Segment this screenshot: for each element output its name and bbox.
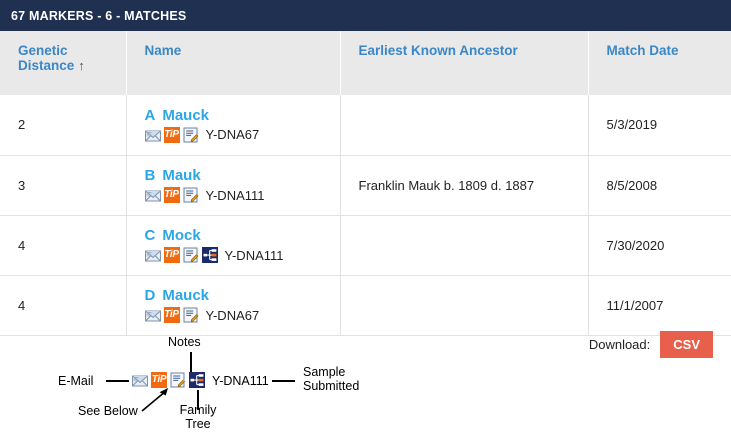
legend-sample-line1: Sample: [303, 365, 345, 379]
legend-diagram: Notes E-Mail TiP Y-DNA1: [0, 330, 460, 444]
notes-icon[interactable]: [183, 307, 199, 323]
email-icon[interactable]: [145, 307, 161, 323]
table-header-row: Genetic Distance↑ Name Earliest Known An…: [0, 31, 731, 95]
notes-icon: [170, 372, 186, 388]
marker-panel-label: Y-DNA111: [225, 248, 284, 263]
match-surname: Mauk: [162, 167, 200, 184]
table-row: 4CMockTiPY-DNA1117/30/2020: [0, 215, 731, 275]
family-tree-icon[interactable]: [202, 247, 218, 263]
notes-icon[interactable]: [183, 247, 199, 263]
match-initial: C: [145, 227, 156, 244]
cell-match-date: 8/5/2008: [588, 155, 731, 215]
legend-leader-email: [106, 380, 129, 382]
page-title: 67 MARKERS - 6 - MATCHES: [11, 9, 186, 23]
column-header-label: Earliest Known Ancestor: [359, 43, 518, 58]
notes-icon[interactable]: [183, 187, 199, 203]
match-surname: Mauck: [162, 107, 209, 124]
cell-genetic-distance: 2: [0, 95, 126, 155]
match-name-link[interactable]: CMock: [145, 227, 330, 244]
marker-panel-label: Y-DNA111: [206, 188, 265, 203]
match-name-link[interactable]: AMauck: [145, 107, 330, 124]
sort-ascending-icon[interactable]: ↑: [78, 58, 85, 73]
marker-panel-label: Y-DNA67: [206, 308, 260, 323]
family-tree-icon: [189, 372, 205, 388]
cell-match-date: 7/30/2020: [588, 215, 731, 275]
match-initial: B: [145, 167, 156, 184]
email-icon: [132, 372, 148, 388]
column-header-match-date[interactable]: Match Date: [588, 31, 731, 95]
cell-name: DMauckTiPY-DNA67: [126, 275, 340, 335]
matches-table: Genetic Distance↑ Name Earliest Known An…: [0, 31, 731, 336]
cell-name: CMockTiPY-DNA111: [126, 215, 340, 275]
column-header-earliest-known-ancestor[interactable]: Earliest Known Ancestor: [340, 31, 588, 95]
cell-name: BMaukTiPY-DNA111: [126, 155, 340, 215]
cell-earliest-known-ancestor: [340, 215, 588, 275]
legend-family-tree-line2: Tree: [185, 417, 210, 431]
legend-leader-notes: [190, 352, 192, 374]
legend-family-tree-line1: Family: [180, 403, 217, 417]
match-initial: D: [145, 287, 156, 304]
panel-title-bar: 67 MARKERS - 6 - MATCHES: [0, 0, 731, 31]
cell-genetic-distance: 4: [0, 215, 126, 275]
cell-genetic-distance: 3: [0, 155, 126, 215]
legend-label-notes: Notes: [168, 335, 201, 349]
column-header-genetic-distance[interactable]: Genetic Distance↑: [0, 31, 126, 95]
column-header-label: Genetic Distance: [18, 43, 74, 73]
tip-icon[interactable]: TiP: [164, 307, 180, 323]
cell-match-date: 5/3/2019: [588, 95, 731, 155]
email-icon[interactable]: [145, 247, 161, 263]
notes-icon[interactable]: [183, 127, 199, 143]
legend-tip-icon: TiP: [151, 372, 167, 388]
column-header-label: Match Date: [607, 43, 679, 58]
match-surname: Mock: [162, 227, 200, 244]
email-icon[interactable]: [145, 187, 161, 203]
legend-label-sample-submitted: Sample Submitted: [303, 365, 359, 394]
cell-earliest-known-ancestor: [340, 95, 588, 155]
tip-icon[interactable]: TiP: [164, 247, 180, 263]
legend-label-email: E-Mail: [58, 374, 93, 388]
column-header-name[interactable]: Name: [126, 31, 340, 95]
legend-leader-sample: [272, 380, 295, 382]
match-initial: A: [145, 107, 156, 124]
match-surname: Mauck: [162, 287, 209, 304]
legend-sample-line2: Submitted: [303, 379, 359, 393]
match-icon-row: TiPY-DNA111: [145, 187, 330, 203]
cell-name: AMauckTiPY-DNA67: [126, 95, 340, 155]
download-csv-button[interactable]: CSV: [660, 331, 713, 358]
match-name-link[interactable]: BMauk: [145, 167, 330, 184]
table-row: 3BMaukTiPY-DNA111Franklin Mauk b. 1809 d…: [0, 155, 731, 215]
cell-genetic-distance: 4: [0, 275, 126, 335]
legend-label-family-tree: Family Tree: [175, 403, 221, 432]
email-icon[interactable]: [145, 127, 161, 143]
marker-panel-label: Y-DNA67: [206, 127, 260, 142]
match-icon-row: TiPY-DNA67: [145, 307, 330, 323]
match-icon-row: TiPY-DNA67: [145, 127, 330, 143]
legend-arrow-see-below: [140, 387, 174, 413]
table-row: 2AMauckTiPY-DNA675/3/2019: [0, 95, 731, 155]
cell-earliest-known-ancestor: Franklin Mauk b. 1809 d. 1887: [340, 155, 588, 215]
legend-family-tree-icon: [189, 372, 205, 391]
table-row: 4DMauckTiPY-DNA6711/1/2007: [0, 275, 731, 335]
match-icon-row: TiPY-DNA111: [145, 247, 330, 263]
tip-icon[interactable]: TiP: [164, 187, 180, 203]
column-header-label: Name: [145, 43, 182, 58]
legend-marker-label: Y-DNA111: [212, 374, 269, 388]
download-area: Download: CSV: [589, 331, 713, 358]
tip-icon[interactable]: TiP: [164, 127, 180, 143]
cell-match-date: 11/1/2007: [588, 275, 731, 335]
cell-earliest-known-ancestor: [340, 275, 588, 335]
legend-label-see-below: See Below: [78, 404, 138, 418]
match-name-link[interactable]: DMauck: [145, 287, 330, 304]
download-label: Download:: [589, 337, 650, 352]
